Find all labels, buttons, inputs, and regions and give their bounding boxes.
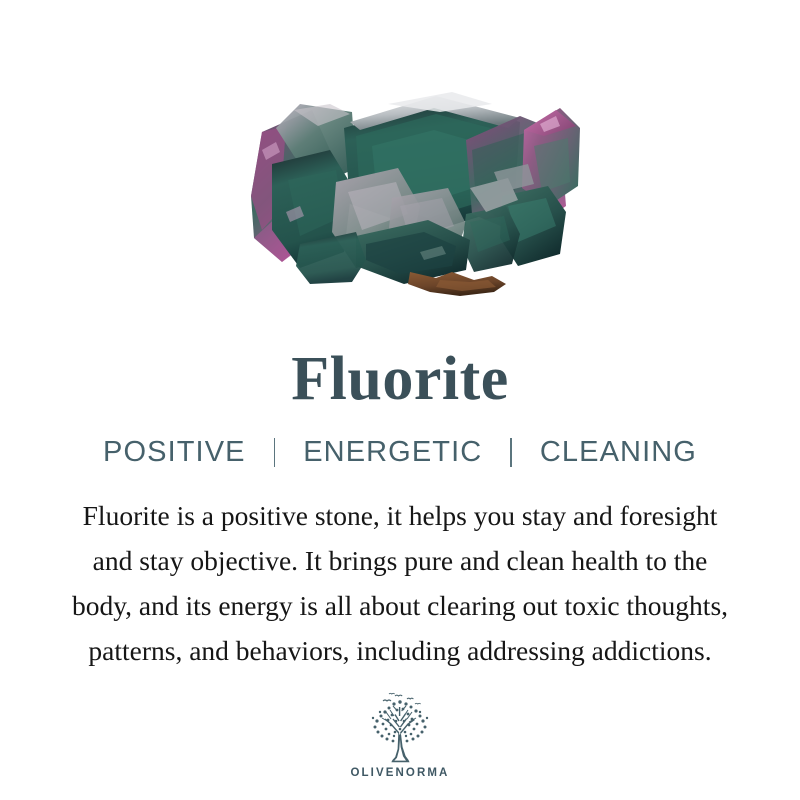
description-text: Fluorite is a positive stone, it helps y… — [20, 493, 780, 673]
brand-wordmark: OLIVENORMA — [351, 767, 450, 779]
fluorite-crystal-image — [0, 0, 800, 300]
olive-tree-icon — [361, 691, 439, 765]
brand-logo: OLIVENORMA — [351, 691, 450, 779]
description-line: Fluorite is a positive stone, it helps y… — [20, 493, 780, 538]
description-line: body, and its energy is all about cleari… — [20, 583, 780, 628]
keyword-cleaning: CLEANING — [538, 436, 699, 469]
page-title: Fluorite — [291, 348, 509, 410]
keyword-positive: POSITIVE — [101, 436, 248, 469]
keyword-separator-2 — [510, 438, 512, 467]
keyword-separator-1 — [274, 438, 276, 467]
fluorite-crystal-illustration — [0, 0, 800, 300]
description-line: patterns, and behaviors, including addre… — [20, 628, 780, 673]
keyword-energetic: ENERGETIC — [301, 436, 484, 469]
stone-info-card: Fluorite POSITIVE ENERGETIC CLEANING Flu… — [0, 0, 800, 800]
keyword-row: POSITIVE ENERGETIC CLEANING — [101, 436, 699, 469]
description-line: and stay objective. It brings pure and c… — [20, 538, 780, 583]
